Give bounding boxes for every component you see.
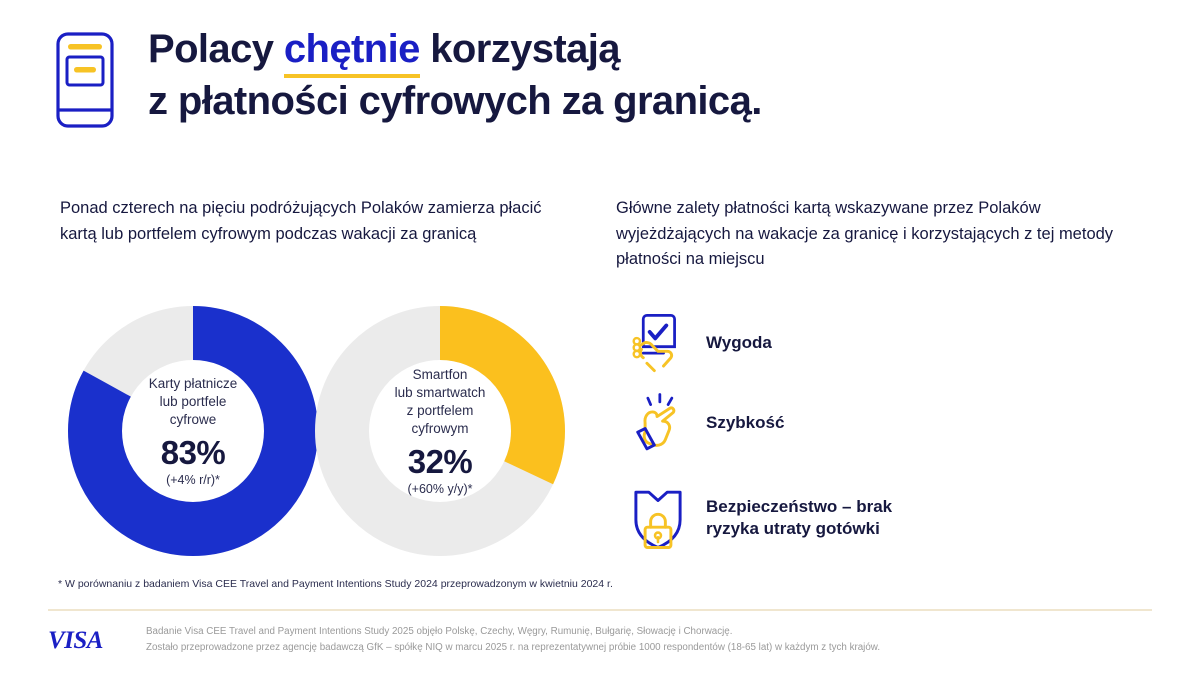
right-column-intro: Główne zalety płatności kartą wskazywane… [616,196,1156,273]
footer: VISA Badanie Visa CEE Travel and Payment… [48,622,1158,664]
benefit-item-bezpieczenstwo: Bezpieczeństwo – brak ryzyka utraty gotó… [620,480,892,556]
mobile-device-icon [54,30,116,130]
shield-lock-icon [620,480,696,556]
donut-chart-group: Karty płatnicze lub portfele cyfrowe 83%… [50,296,590,566]
footer-methodology-text: Badanie Visa CEE Travel and Payment Inte… [146,624,880,656]
phone-checkmark-hand-icon [620,305,696,381]
title-line-1-pre: Polacy [148,27,284,71]
benefit-item-szybkosc: Szybkość [620,385,784,461]
left-column-intro: Ponad czterech na pięciu podróżujących P… [60,196,580,247]
benefit-label: Wygoda [706,332,772,354]
benefit-label: Szybkość [706,412,784,434]
header: Polacy chętnie korzystają z płatności cy… [0,0,1200,160]
title-line-1: Polacy chętnie korzystają [148,26,1048,78]
title-line-1-post: korzystają [420,27,620,71]
snapping-fingers-icon [620,385,696,461]
page-title: Polacy chętnie korzystają z płatności cy… [148,26,1048,125]
benefit-label: Bezpieczeństwo – brak ryzyka utraty gotó… [706,496,892,540]
benefit-item-wygoda: Wygoda [620,305,772,381]
donut-chart-mobile: Smartfon lub smartwatch z portfelem cyfr… [315,306,565,556]
footer-divider [48,609,1152,611]
title-highlight: chętnie [284,26,420,78]
visa-wordmark: VISA [48,627,103,654]
donut-chart-cards: Karty płatnicze lub portfele cyfrowe 83%… [68,306,318,556]
footnote: * W porównaniu z badaniem Visa CEE Trave… [58,578,613,590]
title-line-2: z płatności cyfrowych za granicą. [148,78,1048,125]
visa-logo: VISA [48,628,132,654]
